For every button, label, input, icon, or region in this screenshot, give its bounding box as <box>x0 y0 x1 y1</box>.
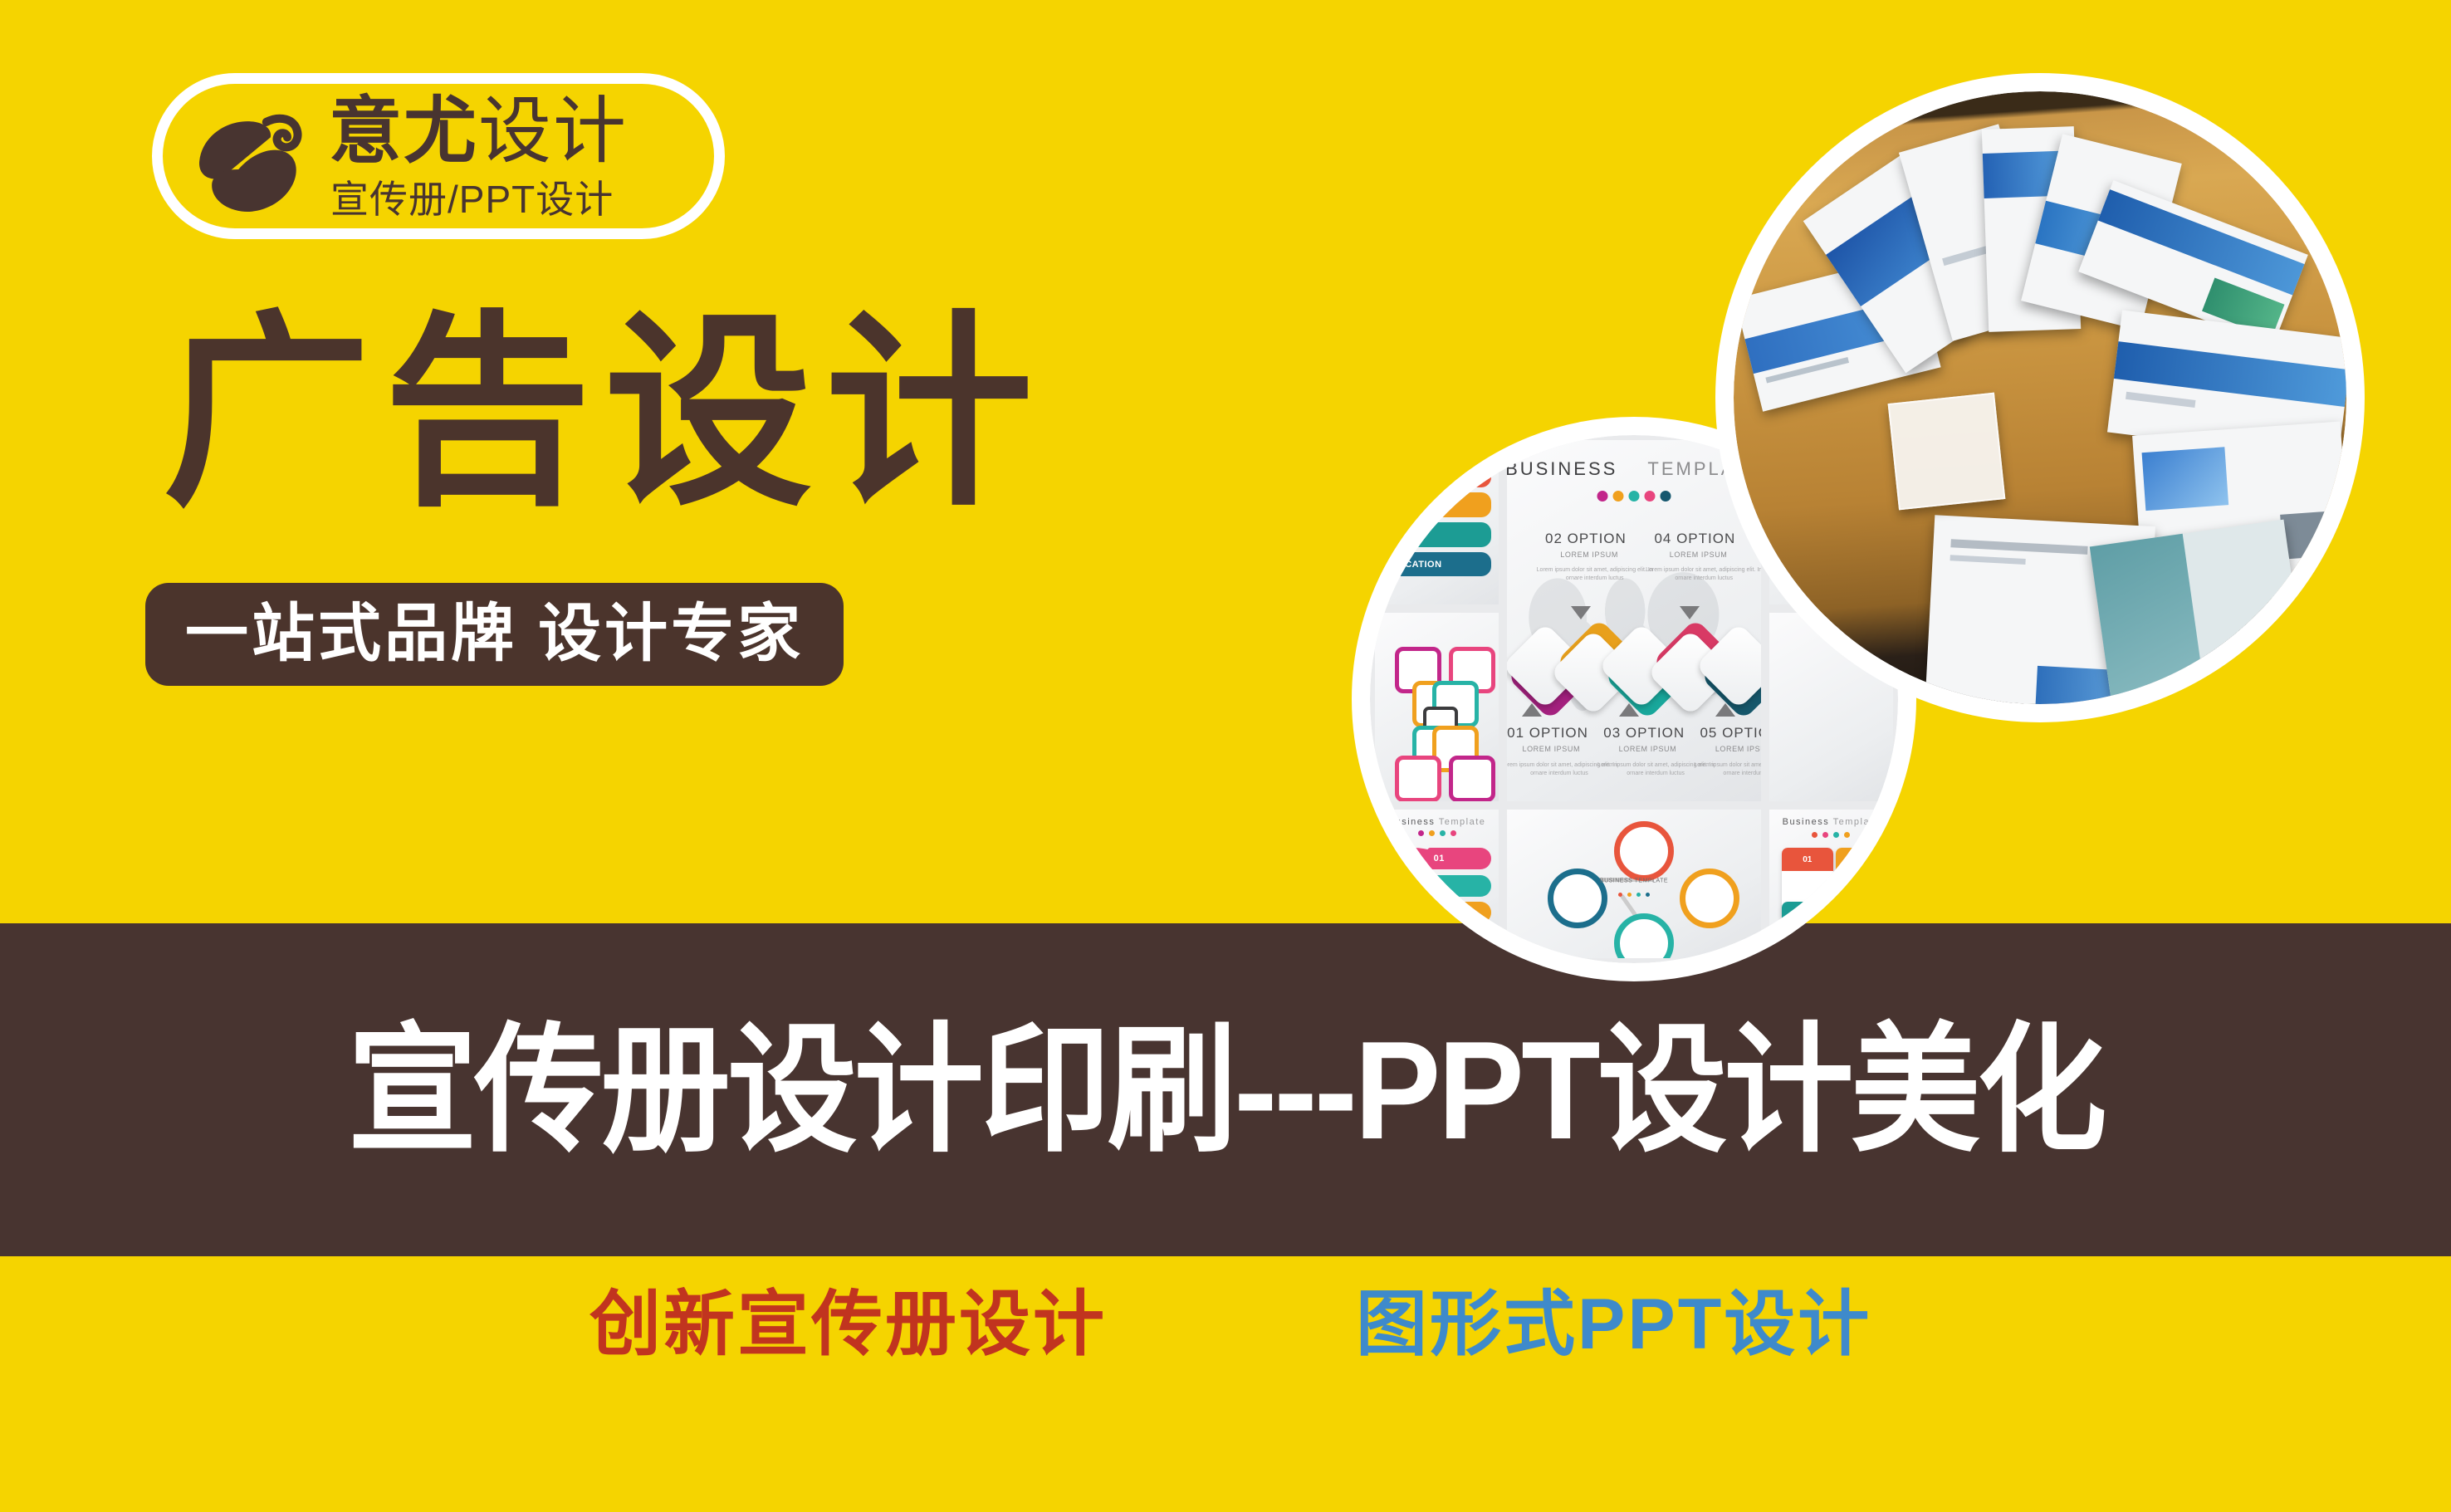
funnel-title: Business Template <box>1388 817 1486 827</box>
hero-option-sub: LOREM IPSUM <box>1522 745 1580 753</box>
arrow-up-icon <box>1619 703 1639 717</box>
arrow-up-icon <box>1715 703 1735 717</box>
hero-option-body: Lorem ipsum dolor sit amet, adipiscing e… <box>1690 761 1761 778</box>
promo-banner: LOCATION BUSINESS TEMPLATE 02 O <box>0 0 2451 1512</box>
logo-subtitle: 宣传册/PPT设计 <box>330 177 614 222</box>
slide-chain-matrix <box>1375 613 1499 801</box>
hero-option-sub: LOREM IPSUM <box>1670 550 1728 559</box>
ribbon-label: LOCATION <box>1392 560 1442 570</box>
banner-headline-label: 宣传册设计印刷---PPT设计美化 <box>347 1007 2103 1173</box>
tagline-ppt: 图形式PPT设计 <box>1356 1279 1871 1370</box>
hero-option-label: 01 OPTION <box>1507 725 1588 741</box>
ring-node-01 <box>1614 821 1674 881</box>
logo-text: 意尤设计 宣传册/PPT设计 <box>329 87 719 243</box>
tagline-brochure: 创新宣传册设计 <box>590 1279 1107 1370</box>
step-title: Business Template <box>1783 817 1881 827</box>
hero-option-sub: LOREM IPSUM <box>1619 745 1677 753</box>
arrow-down-icon <box>1680 606 1700 619</box>
hero-option-label: 02 OPTION <box>1545 531 1627 547</box>
logo-name: 意尤设计 <box>329 91 628 172</box>
brochures-photo <box>1734 91 2346 704</box>
hero-option-sub: LOREM IPSUM <box>1715 745 1761 753</box>
brochures-photo-circle <box>1715 73 2365 722</box>
hero-dot-row <box>1597 491 1671 502</box>
bird-leaf-logo-icon <box>183 94 322 237</box>
hero-option-sub: LOREM IPSUM <box>1560 550 1618 559</box>
step-dot-row <box>1812 832 1850 838</box>
tagline-row: 创新宣传册设计 图形式PPT设计 <box>0 1279 2451 1370</box>
slide-business-template-hero: BUSINESS TEMPLATE 02 OPTION LOREM IPSUM … <box>1507 440 1761 801</box>
page-title: 广告设计 <box>163 306 1046 521</box>
logo-badge[interactable]: 意尤设计 宣传册/PPT设计 <box>152 73 725 239</box>
ring-center-label: BUSINESS TEMPLATE <box>1600 878 1668 883</box>
ring-node-04 <box>1548 869 1607 928</box>
banner-headline: 宣传册设计印刷---PPT设计美化 <box>0 923 2451 1256</box>
arrow-down-icon <box>1571 606 1591 619</box>
brochure-item <box>2090 520 2310 704</box>
subtitle-pill: 一站式品牌 设计专家 <box>145 583 844 686</box>
card-holder <box>1887 393 2005 511</box>
funnel-dot-row <box>1418 830 1456 836</box>
hero-option-label: 05 OPTION <box>1700 725 1760 741</box>
hero-option-body: Lorem ipsum dolor sit amet, adipiscing e… <box>1533 566 1657 583</box>
slide-ribbon: LOCATION <box>1375 440 1499 604</box>
ring-node-02 <box>1680 869 1739 928</box>
subtitle-pill-label: 一站式品牌 设计专家 <box>185 599 804 670</box>
arrow-up-icon <box>1522 703 1542 717</box>
hero-option-label: 03 OPTION <box>1603 725 1685 741</box>
hero-option-label: 04 OPTION <box>1654 531 1735 547</box>
